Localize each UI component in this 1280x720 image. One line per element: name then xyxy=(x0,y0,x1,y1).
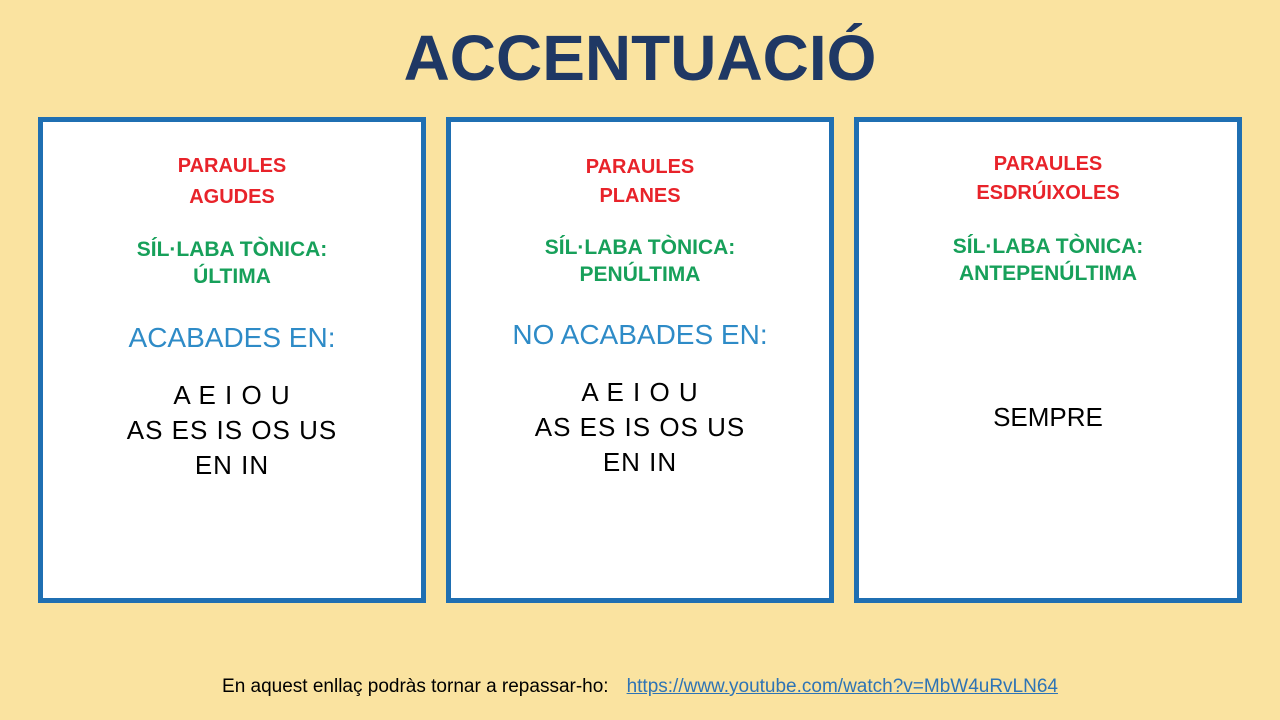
tonic-value: PENÚLTIMA xyxy=(580,261,701,288)
card-agudes: PARAULES AGUDES SÍL·LABA TÒNICA: ÚLTIMA … xyxy=(38,117,426,603)
card-heading-line2: PLANES xyxy=(599,182,680,211)
endings-line3: EN IN xyxy=(603,445,677,480)
cards-container: PARAULES AGUDES SÍL·LABA TÒNICA: ÚLTIMA … xyxy=(0,117,1280,603)
tonic-label: SÍL·LABA TÒNICA: xyxy=(545,234,736,261)
endings-line1: A E I O U xyxy=(581,375,698,410)
endings-line2: AS ES IS OS US xyxy=(535,410,746,445)
always-label: SEMPRE xyxy=(993,402,1103,433)
footer: En aquest enllaç podràs tornar a repassa… xyxy=(0,676,1280,698)
endings-line2: AS ES IS OS US xyxy=(127,413,338,448)
youtube-link[interactable]: https://www.youtube.com/watch?v=MbW4uRvL… xyxy=(627,676,1058,697)
ending-label: NO ACABADES EN: xyxy=(512,318,767,352)
card-heading-line2: AGUDES xyxy=(189,183,275,212)
card-heading-line1: PARAULES xyxy=(586,153,695,182)
footer-text: En aquest enllaç podràs tornar a repassa… xyxy=(222,676,609,697)
tonic-value: ÚLTIMA xyxy=(193,263,271,290)
card-esdruixoles: PARAULES ESDRÚIXOLES SÍL·LABA TÒNICA: AN… xyxy=(854,117,1242,603)
card-planes: PARAULES PLANES SÍL·LABA TÒNICA: PENÚLTI… xyxy=(446,117,834,603)
tonic-value: ANTEPENÚLTIMA xyxy=(959,260,1137,287)
endings-line3: EN IN xyxy=(195,448,269,483)
card-heading-line1: PARAULES xyxy=(178,152,287,181)
page-title: ACCENTUACIÓ xyxy=(0,0,1280,90)
tonic-label: SÍL·LABA TÒNICA: xyxy=(953,233,1144,260)
ending-label: ACABADES EN: xyxy=(129,321,336,355)
tonic-label: SÍL·LABA TÒNICA: xyxy=(137,236,328,263)
card-heading-line1: PARAULES xyxy=(994,150,1103,179)
card-heading-line2: ESDRÚIXOLES xyxy=(976,179,1119,208)
endings-line1: A E I O U xyxy=(173,378,290,413)
